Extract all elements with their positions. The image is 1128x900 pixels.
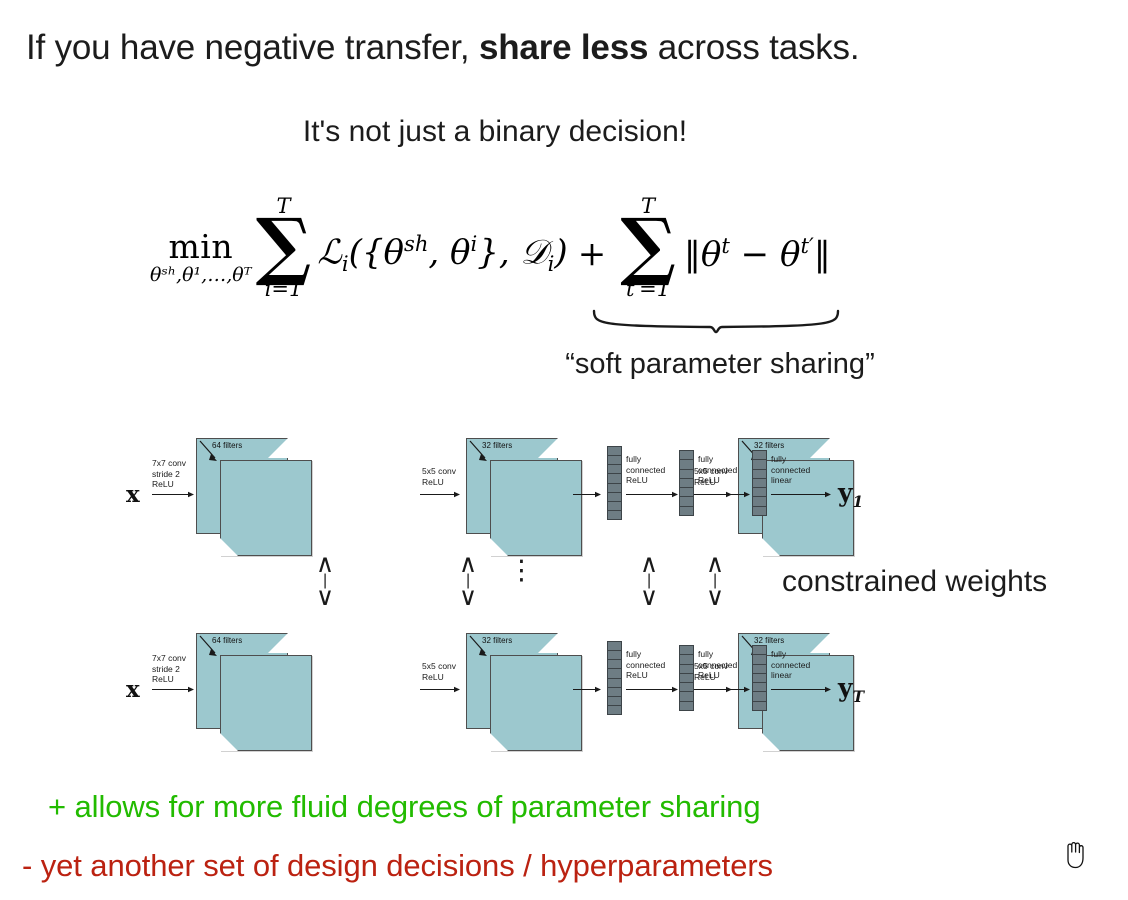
output-symbol: y — [838, 478, 853, 507]
fc-op-label-task-1-3: fullyconnectedlinear — [771, 454, 810, 486]
min-label: min — [169, 227, 234, 266]
theta-t-sup: t — [721, 233, 729, 258]
theta-tprime: θ — [780, 235, 800, 275]
flow-arrow — [698, 491, 750, 498]
fc-cell — [680, 451, 693, 460]
fc-cell — [753, 497, 766, 506]
network-diagram-task-T: x7x7 convstride 2ReLU64 filters5x5 convR… — [0, 619, 1128, 744]
fc-cell — [680, 702, 693, 710]
fc-cell — [753, 479, 766, 488]
min-operator: min θˢʰ,θ¹,…,θᵀ — [150, 227, 252, 286]
sigma-glyph-1: ∑ — [256, 217, 312, 276]
input-label-task-1: x — [126, 481, 140, 508]
headline-text-before: If you have negative transfer, — [26, 28, 479, 67]
arrow-head-down: ∨ — [634, 587, 664, 607]
conv-block-task-T-1: 64 filters — [196, 633, 314, 753]
page-fold-icon — [762, 733, 780, 751]
fc-cell — [680, 692, 693, 701]
fc-cell — [608, 688, 621, 697]
fc-cell — [680, 488, 693, 497]
page-title: If you have negative transfer, share les… — [26, 28, 859, 68]
fc-cell — [680, 655, 693, 664]
fc-cell — [608, 465, 621, 474]
loss-term: ℒi({θsh, θi}, 𝒟i) — [317, 231, 567, 276]
loss-mid: }, — [477, 233, 520, 273]
conv-op-label-task-1-2: 5x5 convReLU — [422, 466, 456, 487]
fc-op-label-task-T-1: fullyconnectedReLU — [626, 649, 665, 681]
fc-cell — [753, 683, 766, 692]
theta-shared: θ — [384, 233, 404, 273]
flow-arrow — [573, 491, 601, 498]
output-label-task-T: yT — [838, 673, 864, 706]
theta-shared-sup: sh — [404, 231, 428, 256]
fc-layer-bar-task-1-1 — [607, 446, 622, 520]
flow-arrow — [626, 686, 678, 693]
fc-cell — [680, 507, 693, 515]
soft-parameter-sharing-label: “soft parameter sharing” — [470, 348, 970, 381]
fc-cell — [608, 642, 621, 651]
summation-1: T ∑ i=1 — [256, 196, 312, 299]
loss-open: ({ — [349, 233, 384, 273]
arrow-head-down: ∨ — [310, 587, 340, 607]
output-symbol: y — [838, 673, 853, 702]
page-fold-icon — [538, 633, 558, 653]
conv-block-task-T-2: 32 filters — [466, 633, 584, 753]
fc-op-label-task-T-3: fullyconnectedlinear — [771, 649, 810, 681]
objective-equation: min θˢʰ,θ¹,…,θᵀ T ∑ i=1 ℒi({θsh, θi}, 𝒟i… — [150, 178, 831, 318]
fc-cell — [680, 470, 693, 479]
summation-2: T ∑ t′=1 — [620, 196, 676, 299]
fc-cell — [608, 651, 621, 660]
fc-cell — [608, 511, 621, 519]
constrained-weights-label: constrained weights — [782, 565, 1047, 599]
fc-cell — [753, 507, 766, 515]
fc-cell — [753, 702, 766, 710]
page-fold-icon — [220, 733, 238, 751]
constrained-weight-arrow-4: ∧❘∨ — [700, 554, 730, 607]
network-diagram-task-1: x7x7 convstride 2ReLU64 filters5x5 convR… — [0, 424, 1128, 549]
fc-cell — [608, 679, 621, 688]
depth-arrow-icon — [469, 635, 491, 659]
flow-arrow — [152, 686, 194, 693]
depth-arrow-icon — [199, 440, 221, 464]
fc-cell — [753, 488, 766, 497]
fc-cell — [608, 697, 621, 706]
headline-emphasis: share less — [479, 28, 648, 67]
fc-cell — [680, 646, 693, 655]
pro-bullet: + allows for more fluid degrees of param… — [48, 789, 760, 825]
loss-close: ) — [554, 233, 567, 273]
page-fold-icon — [538, 438, 558, 458]
constrained-weight-arrow-2: ∧❘∨ — [453, 554, 483, 607]
theta-i: θ — [450, 233, 470, 273]
conv-op-label-task-T-1: 7x7 convstride 2ReLU — [152, 653, 186, 685]
fc-cell — [753, 692, 766, 701]
fc-layer-bar-task-1-2 — [679, 450, 694, 516]
sum1-lower-limit: i=1 — [265, 279, 303, 300]
fc-cell — [608, 456, 621, 465]
subtitle: It's not just a binary decision! — [0, 115, 990, 149]
fc-layer-bar-task-T-1 — [607, 641, 622, 715]
conv-op-label-task-1-1: 7x7 convstride 2ReLU — [152, 458, 186, 490]
page-fold-icon — [810, 633, 830, 653]
output-subscript: 1 — [853, 492, 864, 511]
con-bullet: - yet another set of design decisions / … — [22, 848, 773, 884]
fc-cell — [608, 484, 621, 493]
arrow-head-down: ∨ — [453, 587, 483, 607]
fc-cell — [753, 655, 766, 664]
depth-arrow-icon — [199, 635, 221, 659]
loss-symbol: ℒ — [317, 233, 342, 273]
flow-arrow — [573, 686, 601, 693]
output-label-task-1: y1 — [838, 478, 863, 511]
fc-cell — [608, 669, 621, 678]
grab-hand-cursor — [1060, 838, 1090, 872]
fc-cell — [680, 683, 693, 692]
fc-op-label-task-1-1: fullyconnectedReLU — [626, 454, 665, 486]
conv-op-label-task-T-2: 5x5 convReLU — [422, 661, 456, 682]
flow-arrow — [771, 491, 831, 498]
plus-operator: + — [578, 234, 607, 274]
min-subscript: θˢʰ,θ¹,…,θᵀ — [150, 264, 252, 286]
constrained-weight-arrow-3: ∧❘∨ — [634, 554, 664, 607]
norm-close: ‖ — [814, 235, 831, 275]
fc-cell — [753, 665, 766, 674]
fc-cell — [753, 646, 766, 655]
flow-arrow — [420, 686, 460, 693]
fc-cell — [753, 674, 766, 683]
page-fold-icon — [490, 733, 508, 751]
flow-arrow — [771, 686, 831, 693]
loss-subscript: i — [342, 252, 349, 277]
norm-open: ‖ — [684, 235, 701, 275]
arrow-head-down: ∨ — [700, 587, 730, 607]
page-fold-icon — [268, 633, 288, 653]
fc-cell — [680, 497, 693, 506]
underbrace — [592, 308, 840, 334]
flow-arrow — [152, 491, 194, 498]
fc-cell — [608, 706, 621, 714]
sum2-lower-limit: t′=1 — [626, 279, 670, 300]
fc-cell — [753, 460, 766, 469]
fc-layer-bar-task-T-3 — [752, 645, 767, 711]
loss-sep: , — [428, 233, 450, 273]
norm-minus: − — [730, 235, 780, 275]
fc-op-label-task-1-2: fullyconnectedReLU — [698, 454, 737, 486]
dataset-symbol: 𝒟 — [521, 233, 548, 273]
fc-cell — [680, 665, 693, 674]
constrained-weight-arrow-1: ∧❘∨ — [310, 554, 340, 607]
regularizer-term: ‖θt − θt′‖ — [684, 233, 831, 274]
fc-cell — [608, 474, 621, 483]
output-subscript: T — [853, 687, 865, 706]
page-fold-icon — [810, 438, 830, 458]
headline-text-after: across tasks. — [648, 28, 859, 67]
fc-cell — [608, 660, 621, 669]
fc-cell — [753, 451, 766, 460]
fc-cell — [753, 470, 766, 479]
input-label-task-T: x — [126, 676, 140, 703]
depth-arrow-icon — [469, 440, 491, 464]
fc-cell — [680, 479, 693, 488]
flow-arrow — [626, 491, 678, 498]
fc-cell — [680, 674, 693, 683]
fc-op-label-task-T-2: fullyconnectedReLU — [698, 649, 737, 681]
fc-cell — [608, 493, 621, 502]
fc-layer-bar-task-T-2 — [679, 645, 694, 711]
flow-arrow — [698, 686, 750, 693]
fc-cell — [680, 460, 693, 469]
ellipsis-icon: ⋮ — [508, 558, 534, 584]
theta-t: θ — [701, 235, 721, 275]
fc-cell — [608, 447, 621, 456]
conv-block-task-1-1: 64 filters — [196, 438, 314, 558]
conv-block-task-1-2: 32 filters — [466, 438, 584, 558]
fc-layer-bar-task-1-3 — [752, 450, 767, 516]
sigma-glyph-2: ∑ — [620, 217, 676, 276]
fc-cell — [608, 502, 621, 511]
theta-tprime-sup: t′ — [800, 233, 813, 258]
page-fold-icon — [268, 438, 288, 458]
flow-arrow — [420, 491, 460, 498]
